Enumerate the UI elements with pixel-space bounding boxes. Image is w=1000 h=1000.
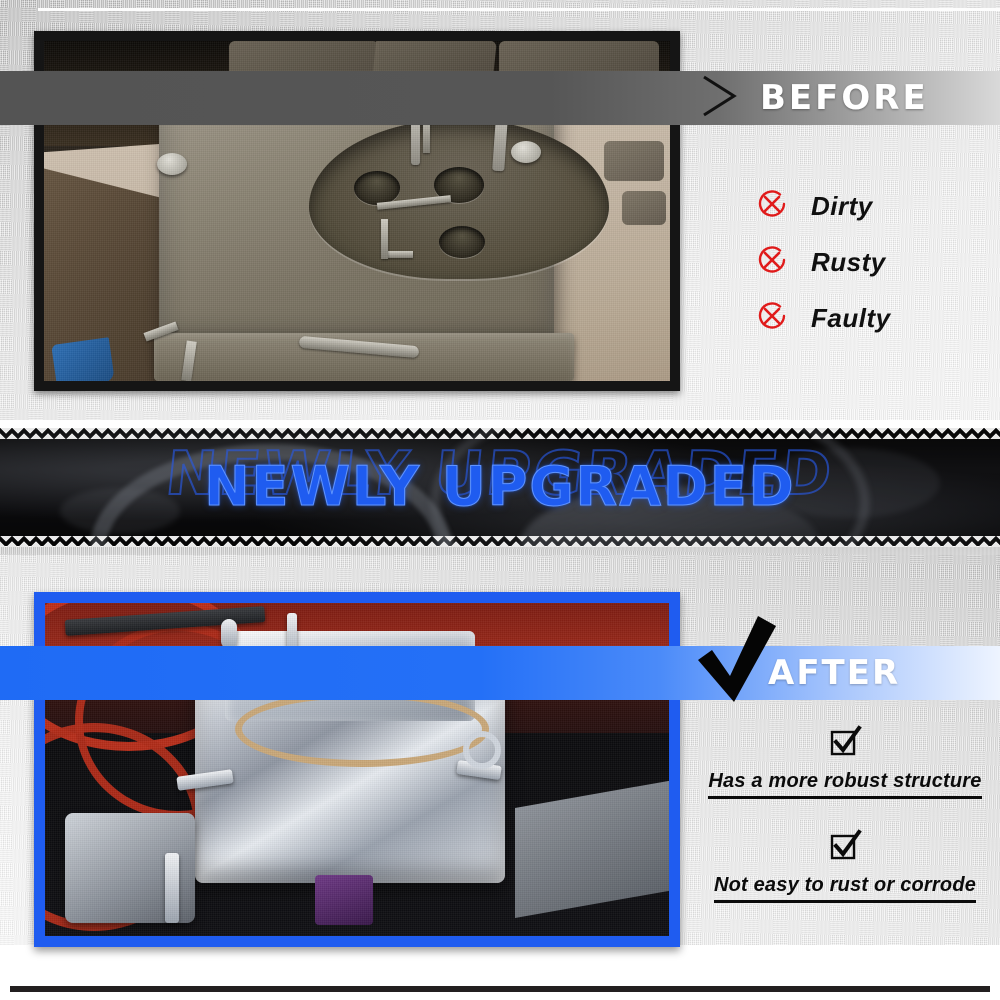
list-item-label: Rusty [811,247,886,278]
before-issues-list: Dirty Rusty Faulty [755,178,1000,346]
zigzag-divider-bottom [0,536,1000,547]
list-item: Not easy to rust or corrode [690,829,1000,903]
circle-x-icon [755,243,789,282]
after-benefits-list: Has a more robust structure Not easy to … [690,725,1000,933]
after-banner-label: AFTER [768,653,900,693]
list-item-label: Has a more robust structure [708,770,981,799]
check-mark-icon [696,614,782,709]
before-banner-label: BEFORE [760,78,929,118]
bottom-rule-divider [10,986,990,992]
list-item: Faulty [755,290,1000,346]
checkbox-checked-icon [690,725,1000,764]
before-banner-content: BEFORE [690,71,1000,125]
zigzag-divider-top [0,428,1000,439]
checkbox-checked-icon [690,829,1000,868]
newly-upgraded-title-wrap: NEWLY UPGRADED NEWLY UPGRADED [0,455,1000,518]
top-hairline-divider [38,8,1000,11]
chevron-right-icon [698,71,742,126]
newly-upgraded-title: NEWLY UPGRADED [204,455,795,518]
list-item: Has a more robust structure [690,725,1000,799]
infographic-stage: BEFORE Dirty Rusty [0,0,1000,1000]
circle-x-icon [755,299,789,338]
list-item-label: Faulty [811,303,891,334]
list-item-label: Dirty [811,191,873,222]
list-item-label: Not easy to rust or corrode [714,874,976,903]
list-item: Dirty [755,178,1000,234]
circle-x-icon [755,187,789,226]
list-item: Rusty [755,234,1000,290]
